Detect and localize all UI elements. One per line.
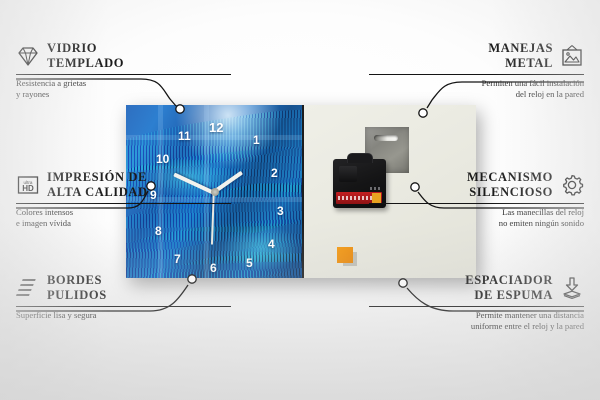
callout-subtitle: Colores intensos e imagen vívida xyxy=(16,207,231,230)
callout-header: BORDES PULIDOS xyxy=(16,273,231,303)
callout-header: ESPACIADOR DE ESPUMA xyxy=(369,273,584,303)
callout-impresion-alta-calidad: ultra HD IMPRESIÓN DE ALTA CALIDAD Color… xyxy=(16,170,231,230)
callout-rule xyxy=(369,74,584,75)
callout-rule xyxy=(369,306,584,307)
foam-spacer xyxy=(337,247,353,263)
callout-subtitle: Las manecillas del reloj no emiten ningú… xyxy=(369,207,584,230)
mechanism-hook xyxy=(347,153,373,163)
grid-line xyxy=(126,135,302,140)
callout-title-line-1: BORDES xyxy=(47,273,107,288)
clock-numeral-4: 4 xyxy=(268,238,275,250)
callout-titles: MANEJAS METAL xyxy=(488,41,553,71)
callout-title-line-1: ESPACIADOR xyxy=(465,273,553,288)
clock-numeral-5: 5 xyxy=(246,257,253,269)
callout-title-line-1: MECANISMO xyxy=(467,170,553,185)
callout-subtitle: Resistencia a grietas y rayones xyxy=(16,78,231,101)
callout-subtitle: Permiten una fácil instalación del reloj… xyxy=(369,78,584,101)
callout-header: VIDRIO TEMPLADO xyxy=(16,41,231,71)
arrow-down-layers-icon xyxy=(560,276,584,300)
clock-numeral-7: 7 xyxy=(174,253,181,265)
callout-title-line-1: MANEJAS xyxy=(488,41,553,56)
diamond-icon xyxy=(16,44,40,68)
clock-numeral-3: 3 xyxy=(277,205,284,217)
callout-titles: VIDRIO TEMPLADO xyxy=(47,41,124,71)
callout-titles: BORDES PULIDOS xyxy=(47,273,107,303)
svg-text:HD: HD xyxy=(22,184,34,193)
callout-title-line-2: ALTA CALIDAD xyxy=(47,185,148,200)
infographic-stage: 12 1 2 3 4 5 6 7 8 9 10 11 xyxy=(0,0,600,400)
callout-titles: MECANISMO SILENCIOSO xyxy=(467,170,553,200)
callout-titles: ESPACIADOR DE ESPUMA xyxy=(465,273,553,303)
callout-bordes-pulidos: BORDES PULIDOS Superficie lisa y segura xyxy=(16,273,231,321)
mechanism-shaft xyxy=(339,166,357,182)
gear-icon xyxy=(560,173,584,197)
callout-title-line-1: IMPRESIÓN DE xyxy=(47,170,148,185)
clock-numeral-12: 12 xyxy=(209,121,223,134)
callout-rule xyxy=(16,74,231,75)
callout-title-line-2: METAL xyxy=(488,56,553,71)
callout-title-line-2: PULIDOS xyxy=(47,288,107,303)
teal-glow xyxy=(222,225,302,271)
clock-numeral-2: 2 xyxy=(271,167,278,179)
callout-rule xyxy=(16,306,231,307)
clock-numeral-10: 10 xyxy=(156,153,169,165)
callout-espaciador-de-espuma: ESPACIADOR DE ESPUMA Permite mantener un… xyxy=(369,273,584,333)
callout-title-line-2: SILENCIOSO xyxy=(467,185,553,200)
callout-rule xyxy=(16,203,231,204)
callout-title-line-1: VIDRIO xyxy=(47,41,124,56)
polished-edges-icon xyxy=(16,276,40,300)
callout-title-line-2: TEMPLADO xyxy=(47,56,124,71)
callout-subtitle: Superficie lisa y segura xyxy=(16,310,231,322)
clock-numeral-1: 1 xyxy=(253,134,260,146)
callout-rule xyxy=(369,203,584,204)
callout-header: ultra HD IMPRESIÓN DE ALTA CALIDAD xyxy=(16,170,231,200)
callout-title-line-2: DE ESPUMA xyxy=(465,288,553,303)
picture-frame-hanger-icon xyxy=(560,44,584,68)
callout-header: MECANISMO SILENCIOSO xyxy=(369,170,584,200)
callout-header: MANEJAS METAL xyxy=(369,41,584,71)
clock-numeral-11: 11 xyxy=(178,130,191,142)
callout-subtitle: Permite mantener una distancia uniforme … xyxy=(369,310,584,333)
callout-manejas-metal: MANEJAS METAL Permiten una fácil instala… xyxy=(369,41,584,101)
hanger-slot xyxy=(374,135,398,141)
callout-titles: IMPRESIÓN DE ALTA CALIDAD xyxy=(47,170,148,200)
ultra-hd-icon: ultra HD xyxy=(16,173,40,197)
callout-vidrio-templado: VIDRIO TEMPLADO Resistencia a grietas y … xyxy=(16,41,231,101)
callout-mecanismo-silencioso: MECANISMO SILENCIOSO Las manecillas del … xyxy=(369,170,584,230)
